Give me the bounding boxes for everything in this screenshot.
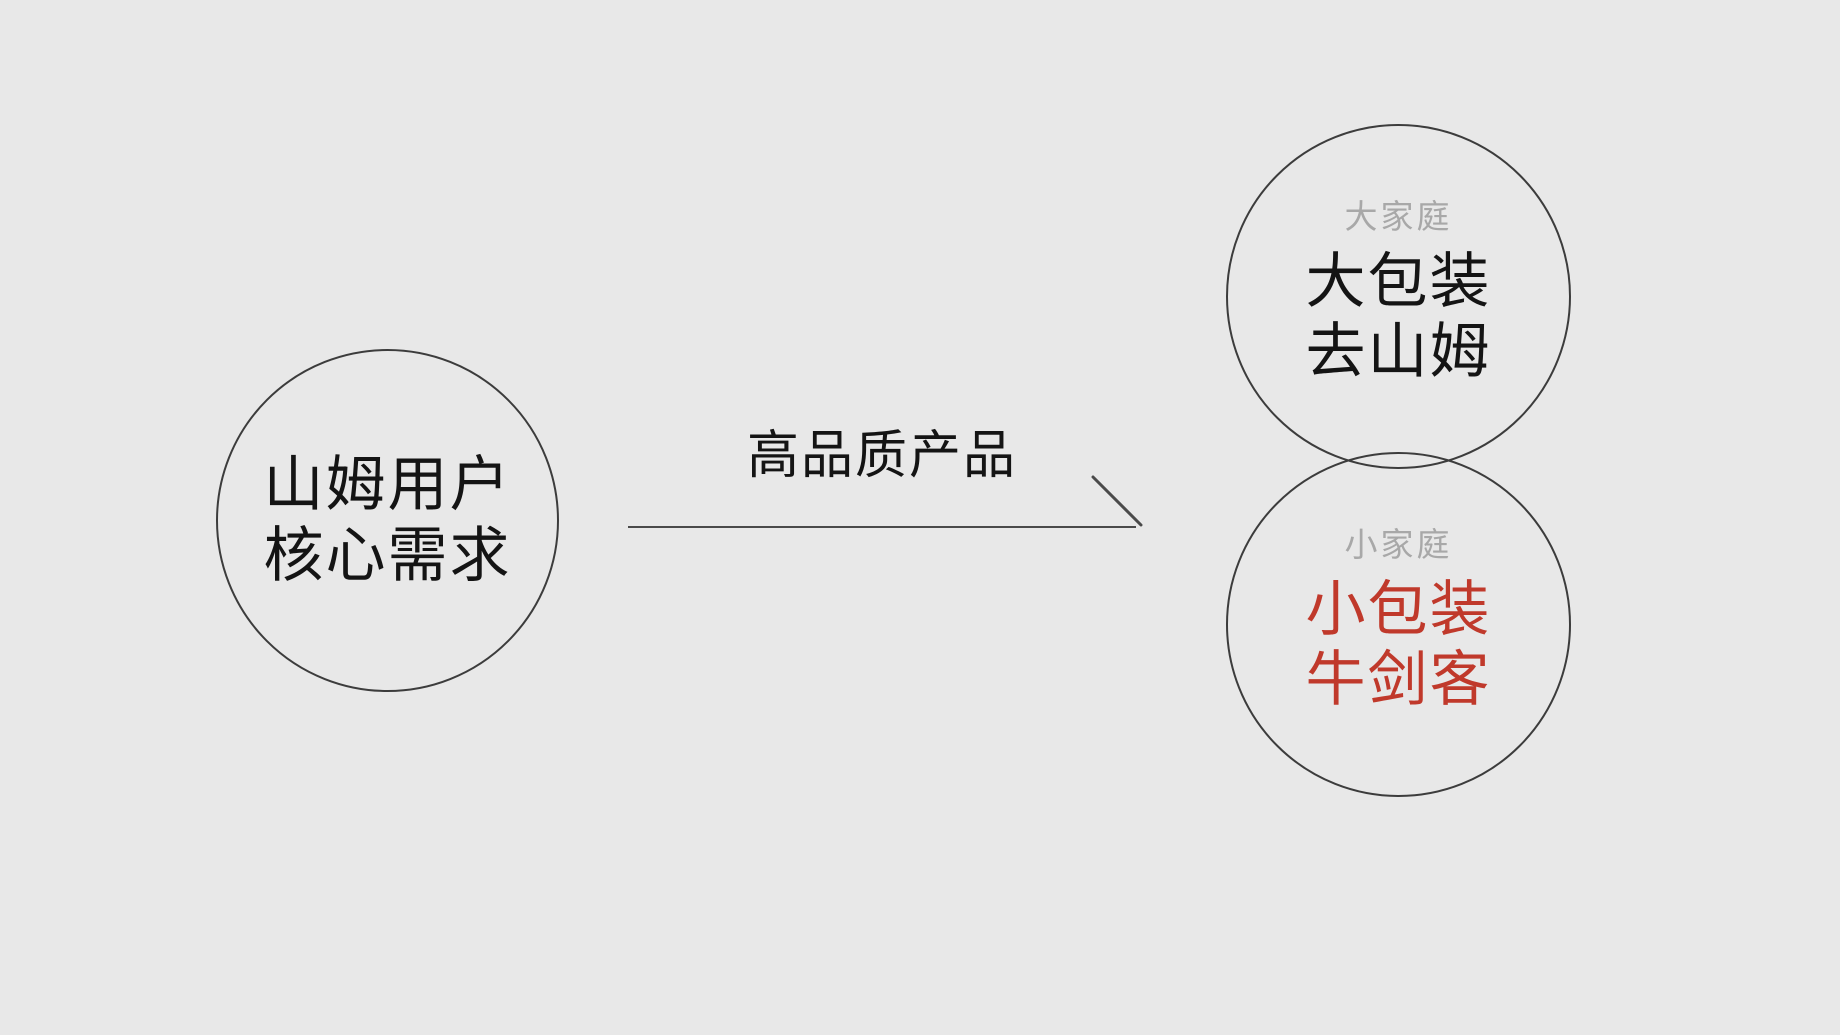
target-circle-small-family[interactable]: 小家庭 小包装 牛剑客 (1226, 452, 1571, 797)
source-circle-sam-user-core-need[interactable]: 山姆用户 核心需求 (216, 349, 559, 692)
connector-arrow-group: 高品质产品 (628, 430, 1148, 560)
small-family-text-stack: 小家庭 小包装 牛剑客 (1306, 525, 1492, 716)
source-circle-text-stack: 山姆用户 核心需求 (264, 450, 512, 592)
large-family-main-line-1: 大包装 (1306, 247, 1492, 318)
large-family-text-stack: 大家庭 大包装 去山姆 (1306, 197, 1492, 388)
small-family-main-line-1: 小包装 (1306, 575, 1492, 646)
large-family-main-line-2: 去山姆 (1306, 317, 1492, 388)
source-label-line-2: 核心需求 (264, 521, 512, 592)
slide-canvas: 山姆用户 核心需求 高品质产品 大家庭 大包装 去山姆 小家庭 小包装 牛剑客 (0, 0, 1840, 1035)
source-label-line-1: 山姆用户 (264, 450, 512, 521)
connector-label-high-quality-product: 高品质产品 (628, 430, 1136, 482)
target-circle-large-family[interactable]: 大家庭 大包装 去山姆 (1226, 124, 1571, 469)
small-family-sub-label: 小家庭 (1345, 525, 1453, 565)
arrow-shaft (628, 526, 1136, 528)
small-family-main-line-2: 牛剑客 (1306, 645, 1492, 716)
arrow-right-icon (1091, 475, 1143, 527)
large-family-sub-label: 大家庭 (1345, 197, 1453, 237)
